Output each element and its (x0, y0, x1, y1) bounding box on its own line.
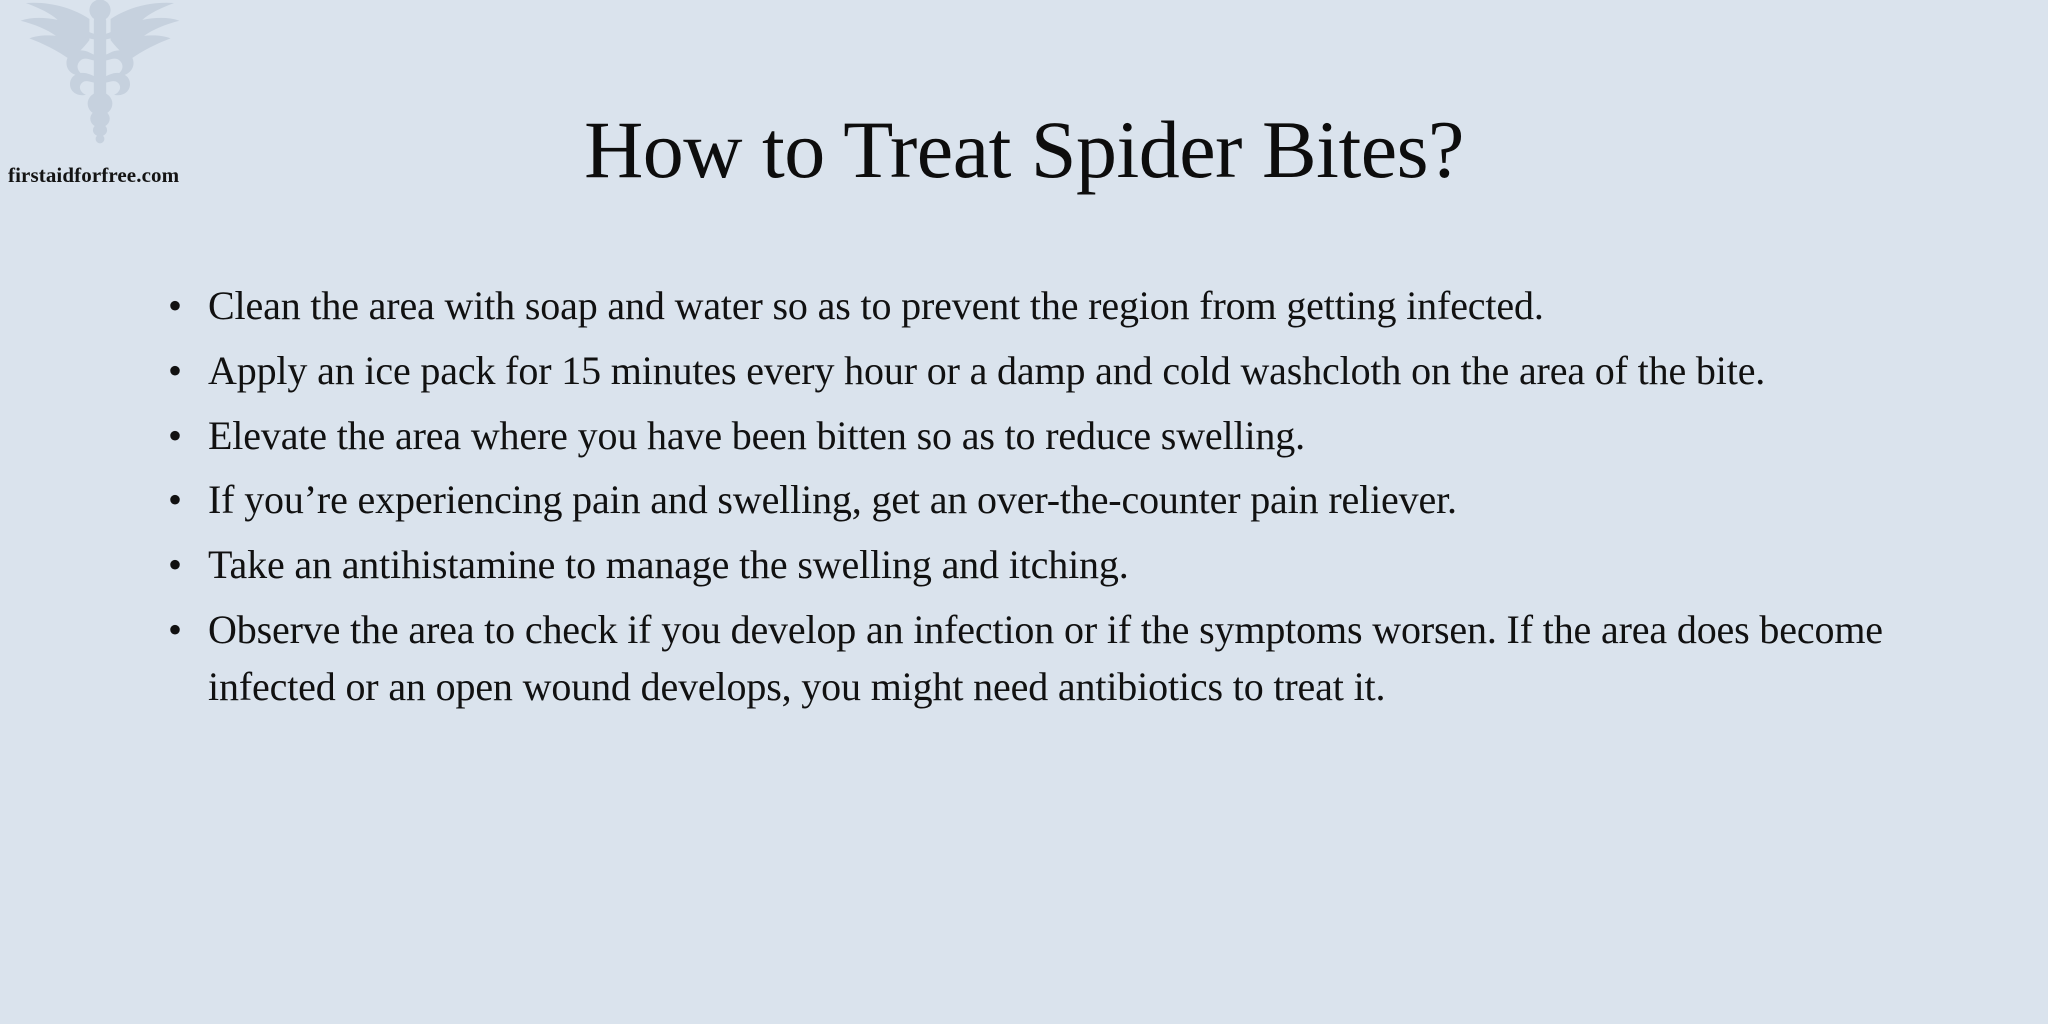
list-item-text: Apply an ice pack for 15 minutes every h… (208, 343, 1970, 400)
list-item: • Apply an ice pack for 15 minutes every… (160, 343, 1970, 400)
list-item-text: Take an antihistamine to manage the swel… (208, 537, 1970, 594)
list-item-text: Observe the area to check if you develop… (208, 602, 1970, 716)
list-item-text: Clean the area with soap and water so as… (208, 278, 1970, 335)
bullet-marker-icon: • (168, 602, 192, 659)
page-title: How to Treat Spider Bites? (0, 107, 2048, 192)
bullet-marker-icon: • (168, 278, 192, 335)
list-item: • Take an antihistamine to manage the sw… (160, 537, 1970, 594)
list-item: • Observe the area to check if you devel… (160, 602, 1970, 716)
list-item-text: If you’re experiencing pain and swelling… (208, 472, 1970, 529)
slide-canvas: firstaidforfree.com How to Treat Spider … (0, 0, 2048, 1024)
list-item: • If you’re experiencing pain and swelli… (160, 472, 1970, 529)
bullet-marker-icon: • (168, 537, 192, 594)
bullet-marker-icon: • (168, 408, 192, 465)
list-item-text: Elevate the area where you have been bit… (208, 408, 1970, 465)
treatment-steps-list: • Clean the area with soap and water so … (160, 278, 1970, 724)
list-item: • Clean the area with soap and water so … (160, 278, 1970, 335)
list-item: • Elevate the area where you have been b… (160, 408, 1970, 465)
bullet-marker-icon: • (168, 472, 192, 529)
bullet-marker-icon: • (168, 343, 192, 400)
